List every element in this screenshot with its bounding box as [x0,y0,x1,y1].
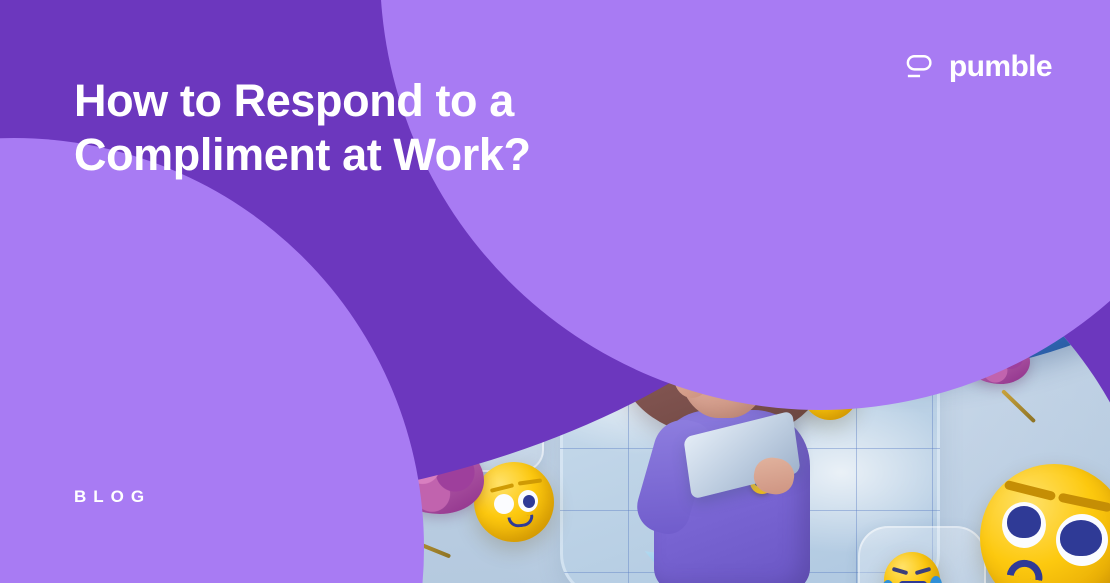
title-line-2: Compliment at Work? [74,128,634,182]
cover-content: How to Respond to a Compliment at Work? … [0,0,1110,583]
title-line-1: How to Respond to a [74,74,634,128]
page-title: How to Respond to a Compliment at Work? [74,74,634,181]
pumble-logo-text: pumble [949,52,1052,82]
blog-cover-canvas: How to Respond to a Compliment at Work? … [0,0,1110,583]
pumble-logo[interactable]: pumble [906,52,1052,82]
category-label: BLOG [74,487,151,507]
speech-bubble-icon [906,52,936,82]
